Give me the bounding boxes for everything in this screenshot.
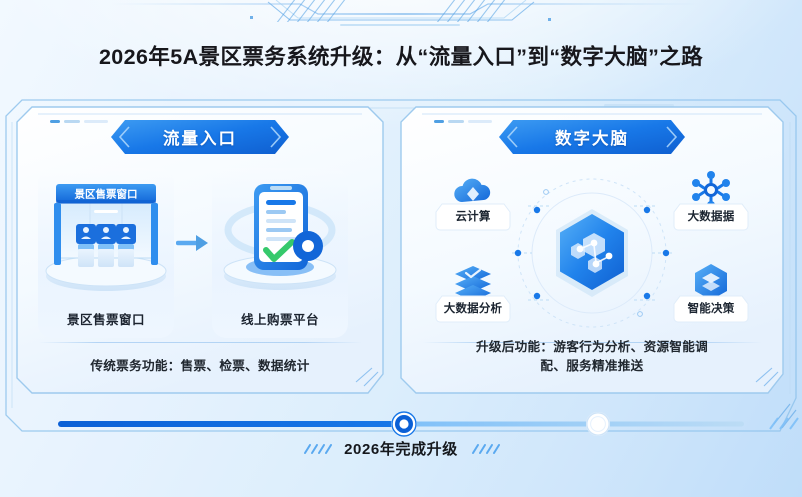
badge-traffic-entry: 流量入口 [111, 120, 289, 154]
panel-digital-brain: 数字大脑 [400, 106, 784, 394]
timeline-label-group: 2026年完成升级 [0, 438, 802, 459]
mobile-ticket-icon [212, 170, 348, 298]
badge-label: 流量入口 [163, 125, 237, 149]
node-label: 云计算 [434, 208, 512, 224]
hub-diagram: 云计算 [400, 162, 784, 344]
timeline-label: 2026年完成升级 [344, 438, 458, 459]
hexagon-network-icon [550, 207, 634, 299]
header-decoration [0, 0, 802, 34]
node-label: 大数据分析 [434, 300, 512, 316]
ticket-booth-icon: 景区售票窗口 [38, 170, 174, 298]
node-label: 大数据据 [672, 208, 750, 224]
node-big-data: 大数据据 [672, 170, 750, 236]
right-footnote: 升级后功能：游客行为分析、资源智能调 配、服务精准推送 [414, 338, 770, 376]
online-platform-card: 线上购票平台 [212, 168, 348, 338]
arrow-right-icon [176, 230, 210, 256]
badge-label: 数字大脑 [555, 125, 629, 149]
timeline-node-active [391, 411, 417, 437]
left-footnote: 传统票务功能：售票、检票、数据统计 [30, 357, 370, 376]
timeline [0, 406, 802, 442]
badge-digital-brain: 数字大脑 [499, 120, 685, 154]
right-footnote-line1: 升级后功能：游客行为分析、资源智能调 [476, 340, 708, 354]
online-platform-caption: 线上购票平台 [212, 309, 348, 328]
ticket-booth-card: 景区售票窗口 [38, 168, 174, 338]
hatch-decoration-right [470, 443, 500, 455]
timeline-node-inactive [586, 412, 610, 436]
slide-canvas: 2026年5A景区票务系统升级：从“流量入口”到“数字大脑”之路 [0, 0, 802, 497]
ticket-booth-caption: 景区售票窗口 [38, 309, 174, 328]
node-label: 智能决策 [672, 300, 750, 316]
page-title: 2026年5A景区票务系统升级：从“流量入口”到“数字大脑”之路 [0, 40, 802, 71]
node-cloud-computing: 云计算 [434, 170, 512, 236]
panel-divider [38, 342, 362, 343]
right-footnote-line2: 配、服务精准推送 [540, 359, 643, 373]
node-intelligent-decision: 智能决策 [672, 262, 750, 328]
node-big-data-analysis: 大数据分析 [434, 262, 512, 328]
booth-sign-text: 景区售票窗口 [74, 188, 138, 201]
left-illustration-row: 景区售票窗口 [16, 168, 384, 348]
panel-traffic-entry: 流量入口 [16, 106, 384, 394]
hatch-decoration-left [302, 443, 332, 455]
